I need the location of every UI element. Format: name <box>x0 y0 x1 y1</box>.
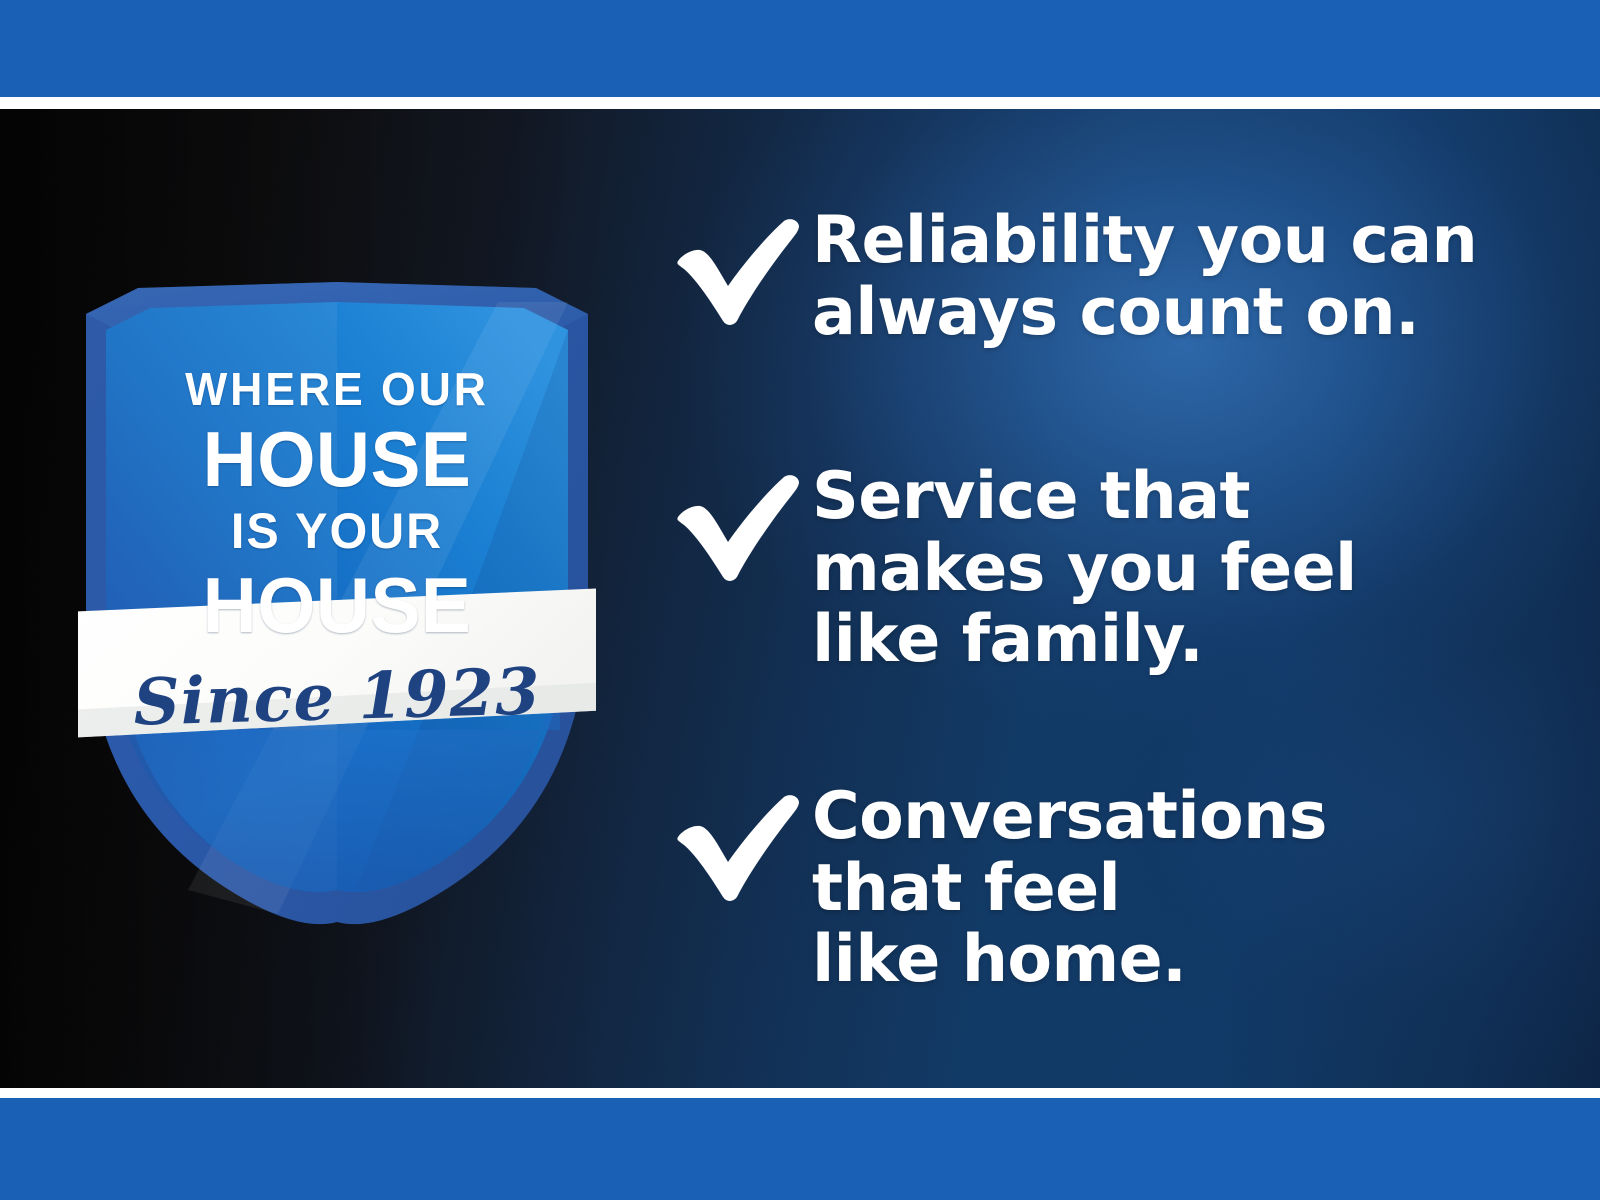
checkmark-icon <box>672 461 812 585</box>
shield-icon <box>78 278 596 926</box>
promo-graphic: Where Our House Is Your House Since 1923… <box>0 0 1600 1200</box>
benefits-list: Reliability you can always count on. Ser… <box>672 109 1552 1088</box>
list-item-label: Service that makes you feel like family. <box>812 461 1357 676</box>
list-item-label: Reliability you can always count on. <box>812 205 1477 348</box>
bottom-brand-bar <box>0 1098 1600 1200</box>
list-item: Service that makes you feel like family. <box>672 461 1357 676</box>
top-brand-bar <box>0 0 1600 97</box>
list-item: Conversations that feel like home. <box>672 781 1327 996</box>
checkmark-icon <box>672 781 812 905</box>
shield-badge: Where Our House Is Your House Since 1923 <box>78 278 596 926</box>
checkmark-icon <box>672 205 812 329</box>
list-item-label: Conversations that feel like home. <box>812 781 1327 996</box>
list-item: Reliability you can always count on. <box>672 205 1477 348</box>
